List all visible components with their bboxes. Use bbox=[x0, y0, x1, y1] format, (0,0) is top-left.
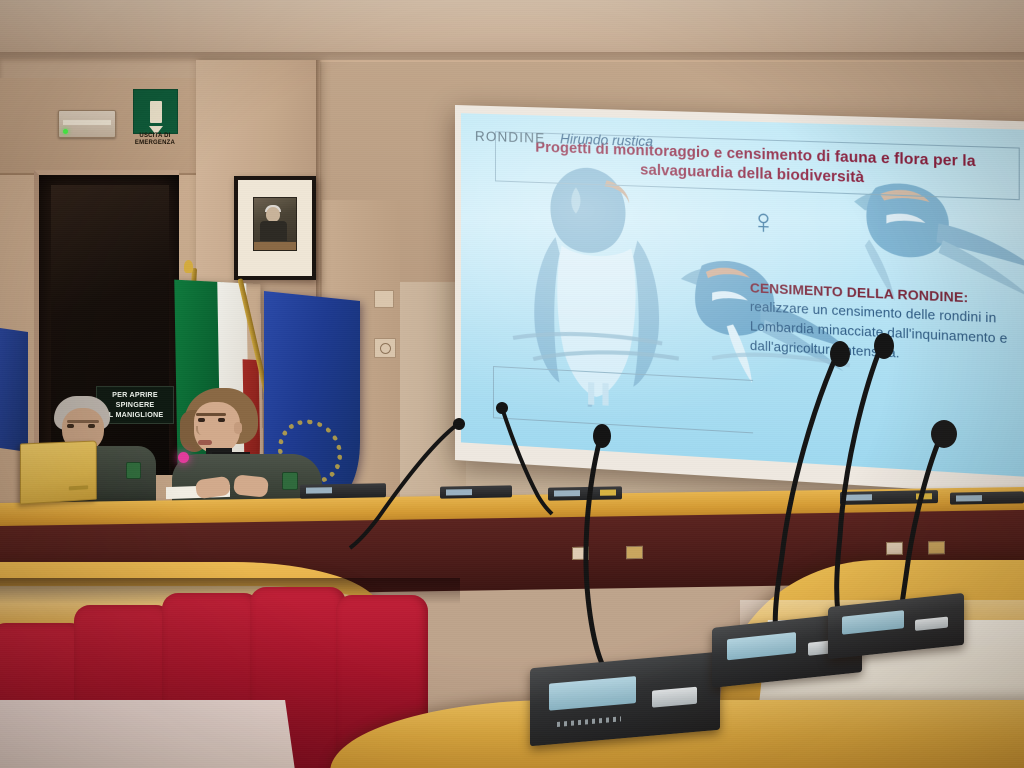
emergency-light-fixture bbox=[58, 110, 116, 138]
species-common-name: RONDINE bbox=[475, 129, 545, 146]
laptop-logo-icon bbox=[69, 485, 88, 490]
wall-plate-switch[interactable] bbox=[374, 290, 394, 308]
microphone-gooseneck bbox=[330, 420, 470, 550]
exit-label-line2: EMERGENZA bbox=[135, 140, 175, 146]
woman-ear bbox=[234, 422, 242, 434]
woman-eye-right bbox=[218, 418, 225, 422]
portrait-body bbox=[260, 221, 287, 241]
man-brow bbox=[67, 420, 99, 423]
exit-label-line1: USCITA DI bbox=[139, 133, 170, 139]
exit-door-icon bbox=[150, 101, 162, 123]
eu-flag-secondary bbox=[0, 328, 28, 452]
mic-talk-button[interactable] bbox=[915, 616, 948, 631]
equipment-panel bbox=[306, 487, 332, 493]
mic-talk-button[interactable] bbox=[652, 686, 698, 707]
mic-panel bbox=[549, 676, 636, 710]
light-diffuser bbox=[63, 120, 111, 125]
woman-hand-right bbox=[233, 474, 269, 497]
portrait-desk bbox=[254, 242, 296, 250]
magenta-indicator-light bbox=[178, 452, 189, 463]
microphone-gooseneck bbox=[496, 404, 566, 514]
laptop[interactable] bbox=[20, 441, 97, 505]
portrait-photo bbox=[253, 197, 297, 251]
mic-indicator-dots bbox=[557, 716, 622, 727]
status-led-icon bbox=[63, 129, 68, 134]
flagpole-finial-icon bbox=[184, 260, 193, 273]
wall-plate-outlet[interactable] bbox=[374, 338, 396, 358]
female-symbol-icon: ♀ bbox=[750, 202, 777, 243]
man-eye-right bbox=[88, 424, 95, 428]
man-eye-left bbox=[67, 424, 74, 428]
microphone-gooseneck bbox=[882, 424, 992, 624]
mic-panel bbox=[842, 611, 905, 635]
woman-nose bbox=[196, 426, 207, 435]
framed-portrait bbox=[234, 176, 316, 280]
soffit bbox=[0, 58, 200, 80]
papers-foreground-left bbox=[0, 700, 295, 768]
woman-mouth bbox=[198, 440, 212, 445]
emergency-exit-label: USCITA DI EMERGENZA bbox=[124, 133, 186, 147]
conference-room-photo: USCITA DI EMERGENZA PER APRIRE SPINGERE … bbox=[0, 0, 1024, 768]
species-scientific-name: Hirundo rustica bbox=[560, 131, 653, 149]
emergency-exit-sign bbox=[133, 89, 178, 134]
portrait-head bbox=[266, 207, 280, 222]
man-shoulder-patch bbox=[126, 462, 141, 479]
woman-eye-left bbox=[198, 418, 205, 422]
mic-panel bbox=[727, 632, 796, 660]
microphone-gooseneck bbox=[560, 430, 650, 670]
woman-brow bbox=[196, 413, 226, 416]
woman-shoulder-patch bbox=[282, 472, 298, 490]
microphone-base-unit[interactable] bbox=[530, 652, 720, 747]
